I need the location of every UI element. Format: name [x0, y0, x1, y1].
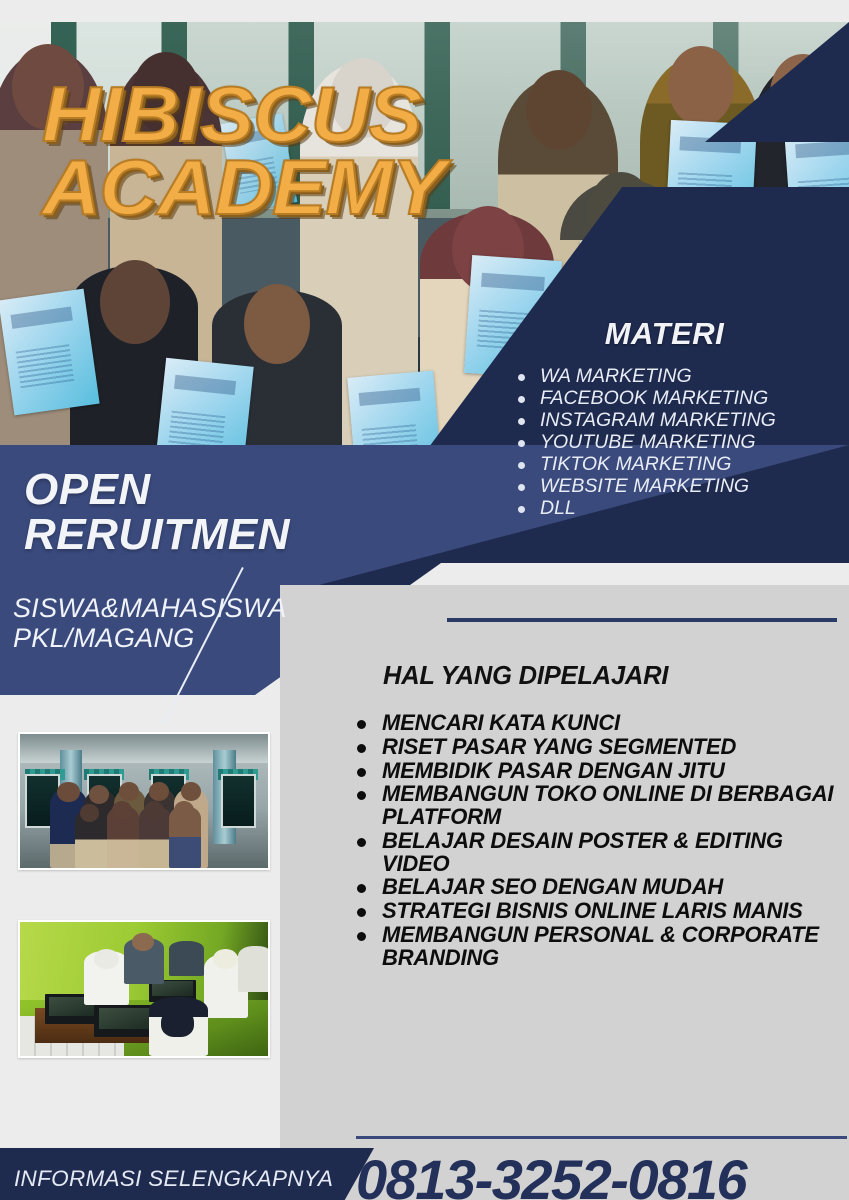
list-item: YOUTUBE MARKETING: [508, 431, 849, 453]
list-item: MENCARI KATA KUNCI: [349, 712, 849, 735]
target-line-1: SISWA&MAHASISWA: [13, 593, 287, 623]
list-item: FACEBOOK MARKETING: [508, 387, 849, 409]
recruitment-heading-line-1: OPEN: [24, 467, 290, 512]
list-item: WA MARKETING: [508, 365, 849, 387]
list-item: BELAJAR DESAIN POSTER & EDITING VIDEO: [349, 830, 849, 876]
recruitment-heading: OPEN RERUITMEN: [24, 467, 290, 558]
list-item: MEMBIDIK PASAR DENGAN JITU: [349, 760, 849, 783]
recruitment-target: SISWA&MAHASISWA PKL/MAGANG: [13, 593, 287, 653]
list-item: RISET PASAR YANG SEGMENTED: [349, 736, 849, 759]
materi-heading: MATERI: [480, 316, 849, 352]
brand-line-2: ACADEMY: [42, 151, 445, 224]
page-title: HIBISCUS ACADEMY: [42, 78, 445, 223]
curriculum-heading: HAL YANG DIPELAJARI: [383, 662, 668, 691]
list-item: TIKTOK MARKETING: [508, 453, 849, 475]
photo-computer-lab: [18, 920, 270, 1058]
list-item: BELAJAR SEO DENGAN MUDAH: [349, 876, 849, 899]
list-item: DLL: [508, 497, 849, 519]
brand-line-1: HIBISCUS: [42, 78, 445, 151]
list-item: MEMBANGUN TOKO ONLINE DI BERBAGAI PLATFO…: [349, 783, 849, 829]
recruitment-heading-line-2: RERUITMEN: [24, 512, 290, 557]
list-item: INSTAGRAM MARKETING: [508, 409, 849, 431]
poster-canvas: HIBISCUS ACADEMY MATERI WA MARKETING FAC…: [0, 0, 849, 1200]
list-item: MEMBANGUN PERSONAL & CORPORATE BRANDING: [349, 924, 849, 970]
footer-label: INFORMASI SELENGKAPNYA: [14, 1166, 333, 1192]
materi-section: MATERI WA MARKETING FACEBOOK MARKETING I…: [508, 316, 849, 519]
target-line-2: PKL/MAGANG: [13, 623, 287, 653]
materi-list: WA MARKETING FACEBOOK MARKETING INSTAGRA…: [508, 365, 849, 519]
photo-group-students: [18, 732, 270, 870]
footer-divider-rule: [356, 1136, 847, 1139]
contact-phone-number[interactable]: 0813-3252-0816: [356, 1147, 746, 1200]
curriculum-divider-rule: [447, 618, 837, 622]
curriculum-list: MENCARI KATA KUNCI RISET PASAR YANG SEGM…: [349, 712, 849, 970]
list-item: WEBSITE MARKETING: [508, 475, 849, 497]
list-item: STRATEGI BISNIS ONLINE LARIS MANIS: [349, 900, 849, 923]
